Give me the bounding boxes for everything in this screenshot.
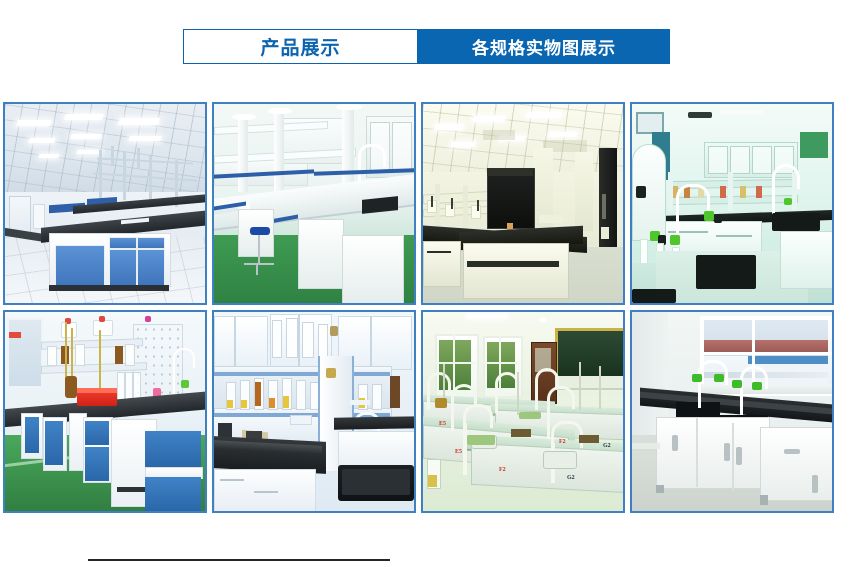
- bench-label-e5: E5: [455, 449, 462, 455]
- gallery-photo-7[interactable]: E5 F2 G2 E5 F2 G2: [421, 310, 625, 513]
- bench-label-g2-far: G2: [603, 443, 611, 449]
- product-photo-gallery: E5 F2 G2 E5 F2 G2: [3, 102, 847, 513]
- bench-label-e5-far: E5: [439, 421, 446, 427]
- gallery-photo-2[interactable]: [212, 102, 416, 305]
- tab-product-showcase-label: 产品展示: [260, 33, 340, 60]
- tab-spec-photos[interactable]: 各规格实物图展示: [418, 29, 670, 64]
- bench-label-f2: F2: [499, 467, 506, 473]
- gallery-photo-4[interactable]: [630, 102, 834, 305]
- bench-label-g2: G2: [567, 475, 575, 481]
- tab-product-showcase[interactable]: 产品展示: [183, 29, 418, 64]
- footer-divider-rule: [88, 559, 390, 561]
- gallery-photo-8[interactable]: [630, 310, 834, 513]
- tab-spec-photos-label: 各规格实物图展示: [472, 34, 616, 59]
- section-tabbar: 产品展示 各规格实物图展示: [183, 29, 670, 64]
- gallery-photo-6[interactable]: [212, 310, 416, 513]
- gallery-photo-3[interactable]: [421, 102, 625, 305]
- gallery-photo-5[interactable]: [3, 310, 207, 513]
- gallery-photo-1[interactable]: [3, 102, 207, 305]
- bench-label-f2-far: F2: [559, 439, 566, 445]
